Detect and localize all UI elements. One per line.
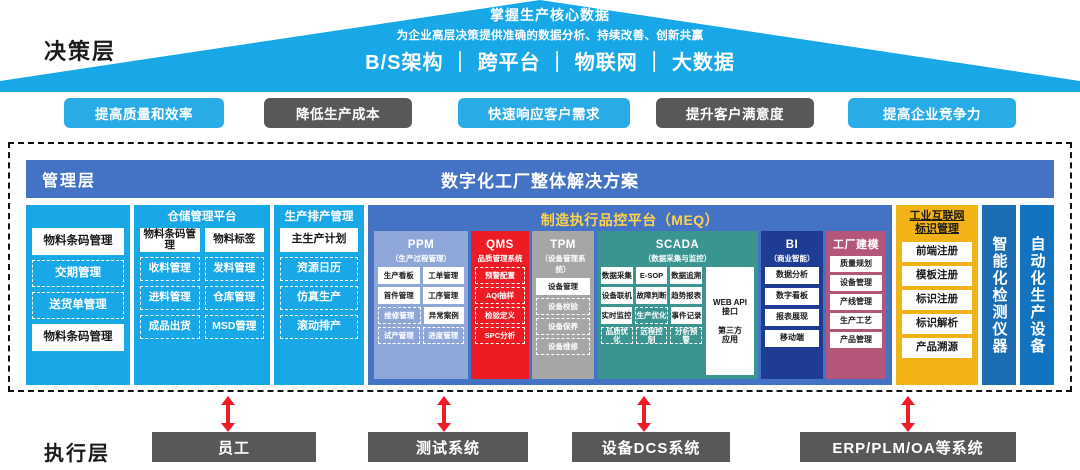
material-item[interactable]: 物料条码管理 (32, 228, 124, 255)
ppm-full-name: （生产过程管理） (378, 253, 464, 264)
iiot-item[interactable]: 模板注册 (902, 266, 972, 286)
warehouse-item[interactable]: 物料标签 (205, 228, 265, 252)
scheduling-item[interactable]: 滚动排产 (280, 315, 358, 339)
material-item[interactable]: 送货单管理 (32, 292, 124, 319)
factory-model-item[interactable]: 产品管理 (830, 332, 882, 348)
material-item[interactable]: 物料条码管理 (32, 324, 124, 351)
qms-heading: QMS 品质管理系统 (475, 235, 525, 264)
ppm-item[interactable]: 生产看板 (378, 267, 420, 284)
tpm-heading: TPM （设备管理系统） (536, 235, 590, 275)
column-warehouse-title: 仓储管理平台 (140, 210, 264, 224)
ppm-item[interactable]: 试产管理 (378, 327, 420, 344)
double-arrow-icon-4 (900, 396, 916, 452)
double-arrow-icon-1 (220, 396, 236, 452)
cell-row: 物料条码管理物料标签 (140, 228, 264, 252)
web-api-interface: WEB API 接口 (713, 298, 747, 316)
meq-platform-title: 制造执行品控平台（MEQ） (368, 210, 892, 230)
iiot-item[interactable]: 前端注册 (902, 242, 972, 262)
automated-equipment-label: 自动化生产设备 (1020, 205, 1054, 385)
double-arrow-icon-2 (436, 396, 452, 452)
web-api-line2: 接口 (713, 307, 747, 316)
warehouse-item[interactable]: 物料条码管理 (140, 228, 200, 252)
scada-full-name: （数据采集与监控） (601, 253, 754, 264)
bi-item[interactable]: 报表展现 (765, 309, 819, 326)
cell-row: 维修管理异常案例 (378, 307, 464, 324)
subpanel-ppm: PPM （生产过程管理） 生产看板工单管理首件管理工序管理维修管理异常案例试产管… (374, 231, 468, 379)
management-layer-title: 数字化工厂整体解决方案 (26, 167, 1054, 192)
iiot-item[interactable]: 标识注册 (902, 290, 972, 310)
benefit-chip-3[interactable]: 快速响应客户需求 (458, 98, 630, 128)
scada-item[interactable]: 生产优化 (635, 307, 668, 324)
third-party-app: 第三方 应用 (718, 326, 742, 344)
scada-item[interactable]: 设备联机 (601, 287, 633, 304)
web-api-line3: 第三方 (718, 326, 742, 335)
column-material-management: 物料条码管理交期管理送货单管理物料条码管理 (26, 205, 130, 385)
qms-abbr: QMS (486, 239, 514, 251)
qms-item[interactable]: 检验定义 (475, 307, 525, 324)
warehouse-item[interactable]: 仓库管理 (205, 286, 265, 310)
scheduling-item[interactable]: 仿真生产 (280, 286, 358, 310)
tpm-item[interactable]: 设备校验 (536, 298, 590, 315)
cell-row: 实时监控生产优化事件记录 (601, 307, 702, 324)
qms-full-name: 品质管理系统 (475, 253, 525, 264)
ppm-item[interactable]: 工序管理 (423, 287, 465, 304)
cell-row: 品质优化远程控制分析预警 (601, 327, 702, 344)
bi-item[interactable]: 数据分析 (765, 267, 819, 284)
subpanel-bi: BI （商业智能） 数据分析数字看板报表展现移动端 (761, 231, 823, 379)
double-arrow-icon-3 (636, 396, 652, 452)
scada-item[interactable]: 品质优化 (601, 327, 633, 344)
warehouse-item[interactable]: 收料管理 (140, 257, 200, 281)
cell-row: 进料管理仓库管理 (140, 286, 264, 310)
cell-row: 数据采集E-SOP数据追溯 (601, 267, 702, 284)
column-smart-inspection-instruments: 智能化检测仪器 (982, 205, 1016, 385)
ppm-item[interactable]: 异常案例 (424, 307, 465, 324)
benefit-chip-1[interactable]: 提高质量和效率 (64, 98, 224, 128)
iiot-title-line2: 标识管理 (915, 223, 959, 235)
ppm-item[interactable]: 进度管理 (423, 327, 465, 344)
bi-item[interactable]: 数字看板 (765, 288, 819, 305)
scada-item[interactable]: 数据采集 (601, 267, 633, 284)
iiot-title-line1: 工业互联网 (910, 210, 965, 222)
tpm-full-name: （设备管理系统） (536, 253, 590, 275)
scada-item[interactable]: 故障判断 (636, 287, 668, 304)
subpanel-tpm: TPM （设备管理系统） 设备管理设备校验设备保养设备维修 (532, 231, 594, 379)
scada-item[interactable]: 分析预警 (670, 327, 702, 344)
management-layer-header: 管理层 数字化工厂整体解决方案 (26, 160, 1054, 198)
cell-row: 收料管理发料管理 (140, 257, 264, 281)
factory-model-item[interactable]: 产线管理 (830, 294, 882, 310)
tpm-abbr: TPM (550, 239, 576, 251)
ppm-item[interactable]: 工单管理 (423, 267, 465, 284)
pyramid-line-1: 掌握生产核心数据 (340, 6, 760, 24)
column-warehouse-platform: 仓储管理平台 物料条码管理物料标签收料管理发料管理进料管理仓库管理成品出货MSD… (134, 205, 270, 385)
scheduling-item[interactable]: 资源日历 (280, 257, 358, 281)
cell-row: 试产管理进度管理 (378, 327, 464, 344)
iiot-item[interactable]: 产品溯源 (902, 338, 972, 358)
bi-item[interactable]: 移动端 (765, 330, 819, 347)
factory-model-abbr: 工厂建模 (833, 239, 879, 251)
warehouse-item[interactable]: 进料管理 (140, 286, 200, 310)
factory-model-item[interactable]: 设备管理 (830, 275, 882, 291)
cell-row: 首件管理工序管理 (378, 287, 464, 304)
warehouse-item[interactable]: 成品出货 (140, 315, 200, 339)
column-industrial-internet-id: 工业互联网 标识管理 前端注册模板注册标识注册标识解析产品溯源 (896, 205, 978, 385)
ppm-item[interactable]: 维修管理 (378, 307, 421, 324)
warehouse-item[interactable]: 发料管理 (205, 257, 265, 281)
web-api-line1: WEB API (713, 298, 747, 307)
ppm-heading: PPM （生产过程管理） (378, 235, 464, 264)
qms-item[interactable]: AQI抽样 (475, 287, 525, 304)
web-api-box: WEB API 接口 第三方 应用 (706, 267, 754, 375)
benefit-chip-5[interactable]: 提高企业竞争力 (848, 98, 1016, 128)
benefit-chip-row: 提高质量和效率降低生产成本快速响应客户需求提升客户满意度提高企业竞争力 (0, 98, 1080, 132)
qms-item[interactable]: SPC分析 (475, 327, 525, 344)
scada-item[interactable]: 趋势报表 (670, 287, 702, 304)
web-api-line4: 应用 (718, 335, 742, 344)
scheduling-item[interactable]: 主生产计划 (280, 228, 358, 252)
ppm-item[interactable]: 首件管理 (378, 287, 420, 304)
column-meq-platform: 制造执行品控平台（MEQ） PPM （生产过程管理） 生产看板工单管理首件管理工… (368, 205, 892, 385)
factory-model-item[interactable]: 生产工艺 (830, 313, 882, 329)
decision-layer-pyramid: 掌握生产核心数据 为企业高层决策提供准确的数据分析、持续改善、创新共赢 B/S架… (0, 0, 1080, 92)
cell-row: 生产看板工单管理 (378, 267, 464, 284)
benefit-chip-4[interactable]: 提升客户满意度 (656, 98, 814, 128)
scada-item[interactable]: 数据追溯 (670, 267, 702, 284)
tpm-item[interactable]: 设备维修 (536, 338, 590, 355)
column-scheduling-title: 生产排产管理 (280, 210, 358, 224)
scada-item[interactable]: 远程控制 (636, 327, 668, 344)
cell-row: 成品出货MSD管理 (140, 315, 264, 339)
execution-layer-label: 执行层 (44, 437, 110, 466)
bi-full-name: （商业智能） (765, 253, 819, 264)
scada-item[interactable]: E-SOP (636, 267, 668, 284)
pyramid-line-2: 为企业高层决策提供准确的数据分析、持续改善、创新共赢 (340, 26, 760, 46)
subpanel-qms: QMS 品质管理系统 预警配置AQI抽样检验定义SPC分析 (471, 231, 529, 379)
warehouse-item[interactable]: MSD管理 (205, 315, 265, 339)
factory-model-item[interactable]: 质量规划 (830, 256, 882, 272)
factory-model-heading: 工厂建模 (830, 235, 882, 253)
material-item[interactable]: 交期管理 (32, 260, 124, 287)
cell-row: 设备联机故障判断趋势报表 (601, 287, 702, 304)
scada-item[interactable]: 事件记录 (671, 307, 702, 324)
qms-item[interactable]: 预警配置 (475, 267, 525, 284)
column-automated-production-equipment: 自动化生产设备 (1020, 205, 1054, 385)
solution-columns-row: 物料条码管理交期管理送货单管理物料条码管理 仓储管理平台 物料条码管理物料标签收… (26, 205, 1054, 385)
meq-subpanels: PPM （生产过程管理） 生产看板工单管理首件管理工序管理维修管理异常案例试产管… (374, 231, 886, 379)
benefit-chip-2[interactable]: 降低生产成本 (264, 98, 412, 128)
ppm-abbr: PPM (408, 239, 434, 251)
scada-grid: 数据采集E-SOP数据追溯设备联机故障判断趋势报表实时监控生产优化事件记录品质优… (601, 267, 754, 375)
tpm-item[interactable]: 设备管理 (536, 278, 590, 295)
decision-layer-label: 决策层 (44, 34, 116, 66)
iiot-item[interactable]: 标识解析 (902, 314, 972, 334)
pyramid-text-block: 掌握生产核心数据 为企业高层决策提供准确的数据分析、持续改善、创新共赢 B/S架… (340, 6, 760, 77)
scada-item[interactable]: 实时监控 (601, 307, 632, 324)
scada-heading: SCADA （数据采集与监控） (601, 235, 754, 264)
tpm-item[interactable]: 设备保养 (536, 318, 590, 335)
column-production-scheduling: 生产排产管理 主生产计划资源日历仿真生产滚动排产 (274, 205, 364, 385)
bi-abbr: BI (786, 239, 799, 251)
subpanel-factory-model: 工厂建模 质量规划设备管理产线管理生产工艺产品管理 (826, 231, 886, 379)
scada-abbr: SCADA (656, 239, 699, 251)
bi-heading: BI （商业智能） (765, 235, 819, 264)
smart-inspection-label: 智能化检测仪器 (982, 205, 1016, 385)
pyramid-line-3: B/S架构 ｜ 跨平台 ｜ 物联网 ｜ 大数据 (340, 49, 760, 77)
subpanel-scada: SCADA （数据采集与监控） 数据采集E-SOP数据追溯设备联机故障判断趋势报… (597, 231, 758, 379)
iiot-title: 工业互联网 标识管理 (902, 210, 972, 238)
